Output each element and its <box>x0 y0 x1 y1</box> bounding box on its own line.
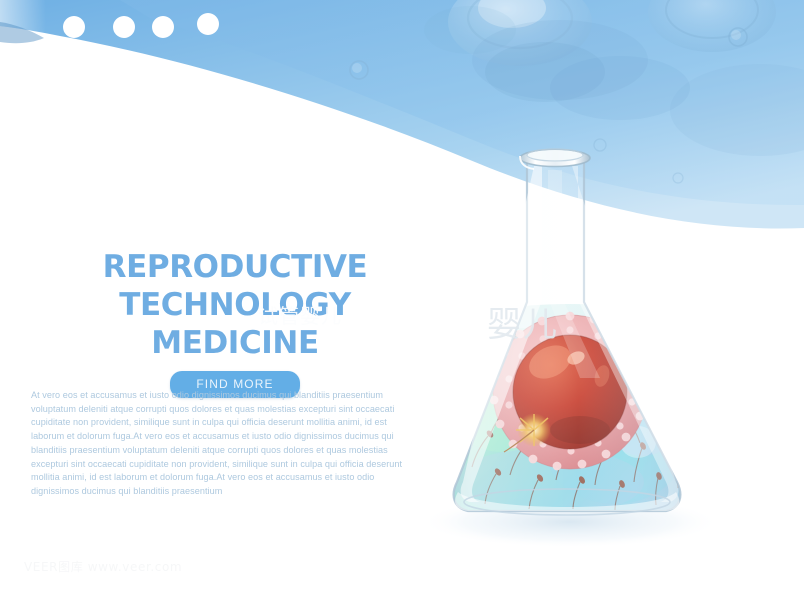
headline-line-2: MEDICINE <box>0 324 470 362</box>
hero-copy: REPRODUCTIVE TECHNOLOGY MEDICINE FIND MO… <box>0 248 500 398</box>
decor-dot-3 <box>152 16 174 38</box>
body-paragraph: At vero eos et accusamus et iusto odio d… <box>31 389 409 499</box>
page-title: REPRODUCTIVE TECHNOLOGY MEDICINE <box>0 248 470 362</box>
headline-line-1: REPRODUCTIVE TECHNOLOGY <box>103 249 368 323</box>
decor-dot-1 <box>63 16 85 38</box>
decor-dot-4 <box>197 13 219 35</box>
decor-dot-2 <box>113 16 135 38</box>
poster-canvas: REPRODUCTIVE TECHNOLOGY MEDICINE FIND MO… <box>0 0 804 590</box>
watermark-footer: VEER图库 www.veer.com <box>24 558 182 575</box>
